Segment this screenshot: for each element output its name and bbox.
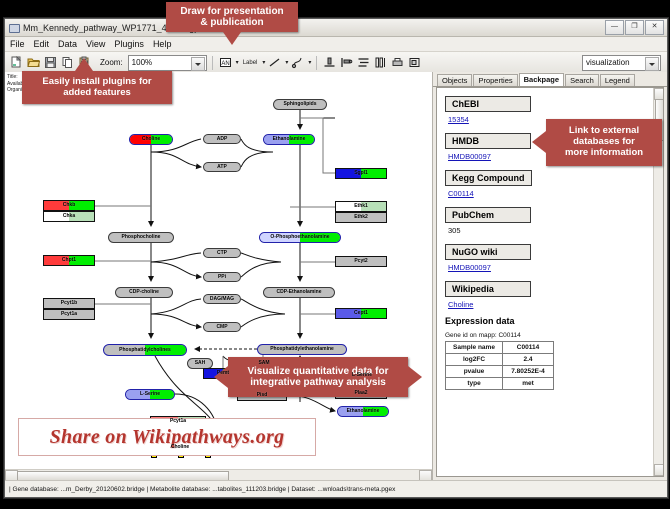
metabolite-node-sphingolipids[interactable]: Sphingolipids [273,99,327,110]
tab-objects[interactable]: Objects [437,74,472,86]
label-dropdown-icon[interactable]: ▾ [262,59,265,66]
node-label: CDP-choline [129,290,159,295]
maximize-button[interactable]: ❐ [625,20,644,35]
print-icon[interactable] [390,55,405,70]
node-label: Ethanolamine [273,137,306,142]
tab-search[interactable]: Search [565,74,599,86]
distribute-vertical-icon[interactable] [356,55,371,70]
node-label: Chkb [63,203,76,208]
expr-key: type [446,378,503,390]
tab-properties[interactable]: Properties [473,74,517,86]
visualization-value: visualization [586,58,630,67]
node-label: L-Serine [140,392,160,397]
screenshot-root: Mm_Kennedy_pathway_WP1771_45176.gpml — ❐… [0,0,670,509]
table-row: log2FC2.4 [446,354,554,366]
expr-value: 7.80252E-4 [503,366,554,378]
metabolite-node-atp[interactable]: ATP [203,162,241,172]
gene-node-chkb[interactable]: Chkb [43,200,95,211]
window-buttons: — ❐ ✕ [605,20,664,35]
metabolite-node-ethanolamine[interactable]: Ethanolamine [263,134,315,145]
node-label: Pcyt1a [170,419,186,424]
node-label: Phosphatidylcholines [119,348,171,353]
db-link[interactable]: Choline [448,300,654,309]
node-label: CMP [216,325,227,330]
toolbar-separator-2 [316,56,317,70]
app-icon [8,22,19,33]
hscroll-thumb[interactable] [17,471,229,480]
db-link[interactable]: HMDB00097 [448,263,654,272]
metabolite-node-phosphatidylcholines[interactable]: Phosphatidylcholines [103,344,187,356]
canvas-hscrollbar[interactable] [5,469,432,480]
node-label: Plaa2 [354,391,367,396]
line-icon[interactable] [267,55,282,70]
node-label: Cept1 [354,311,368,316]
callout-link: Link to external databases for more info… [546,119,662,166]
metabolite-node-ppi[interactable]: PPi [203,272,241,282]
node-label: O-Phosphoethanolamine [270,235,329,240]
node-label: Pcyt2 [354,259,367,264]
status-bar-text: | Gene database: ...m_Derby_20120602.bri… [9,486,395,493]
node-label: Ethk2 [354,215,368,220]
datanode-dropdown-icon[interactable]: ▾ [236,59,239,66]
expr-key: pvalue [446,366,503,378]
svg-text:AN: AN [221,61,229,67]
expression-table: Sample nameC00114log2FC2.4pvalue7.80252E… [445,341,554,390]
callout-visualize: Visualize quantitative data for integrat… [228,357,408,397]
hscroll-right-arrow[interactable] [419,470,432,480]
node-label: L-Serine [352,373,372,378]
align-bottom-icon[interactable] [322,55,337,70]
distribute-horizontal-icon[interactable] [373,55,388,70]
db-link[interactable]: C00114 [448,189,654,198]
callout-draw: Draw for presentation & publication [166,2,298,32]
callout-draw-text: Draw for presentation & publication [180,6,283,29]
chevron-down-icon-visualization[interactable] [645,57,659,71]
gene-id-label: Gene id on mapp: C00114 [445,332,654,339]
gene-node-chka[interactable]: Chka [43,211,95,222]
callout-draw-arrow-icon [223,32,241,45]
db-header: HMDB [445,133,531,149]
menu-item-plugins[interactable]: Plugins [114,39,144,49]
table-row: Sample nameC00114 [446,342,554,354]
node-label: Pisd [257,393,268,398]
metabolite-node-ethanolamine[interactable]: Ethanolamine [337,406,389,417]
gene-node-sgpl1[interactable]: Sgpl1 [335,168,387,179]
tab-legend[interactable]: Legend [600,74,635,86]
node-label: CTP [217,251,227,256]
callout-visualize-arrow-right-icon [408,366,422,388]
status-bar: | Gene database: ...m_Derby_20120602.bri… [5,480,667,497]
callout-share-text: Share on Wikipathways.org [50,426,285,449]
node-label: ADP [217,137,228,142]
node-label: Ethk1 [354,204,368,209]
menu-item-help[interactable]: Help [153,39,172,49]
metabolite-node-choline[interactable]: Choline [129,134,173,145]
align-left-icon[interactable] [339,55,354,70]
node-label: CDP-Ethanolamine [276,290,321,295]
node-label: Pemt [217,371,229,376]
tab-backpage[interactable]: Backpage [519,73,564,86]
db-header: Wikipedia [445,281,531,297]
node-label: Pcyt1a [61,312,77,317]
line-dropdown-icon[interactable]: ▾ [285,59,288,66]
metabolite-node-ctp[interactable]: CTP [203,248,241,258]
node-label: Sgpl1 [354,171,368,176]
table-row: typemet [446,378,554,390]
node-label: Chka [63,214,75,219]
open-folder-icon[interactable] [26,55,41,70]
gene-node-pcyt1a[interactable]: Pcyt1a [43,309,95,320]
metabolite-node-cdp-ethanolamine[interactable]: CDP-Ethanolamine [263,287,335,298]
menu-item-edit[interactable]: Edit [34,39,50,49]
toolbar-separator-1 [212,56,213,70]
interaction-icon[interactable] [290,55,305,70]
close-button[interactable]: ✕ [645,20,664,35]
metabolite-node-cdp-choline[interactable]: CDP-choline [115,287,173,298]
callout-plugins: Easily install plugins for added feature… [22,71,172,104]
side-panel-tabs: ObjectsPropertiesBackpageSearchLegend [433,72,667,87]
expr-key: Sample name [446,342,503,354]
save-icon[interactable] [43,55,58,70]
callout-link-arrow-icon [532,131,546,153]
db-header: ChEBI [445,96,531,112]
expr-value: C00114 [503,342,554,354]
callout-link-text: Link to external databases for more info… [565,126,643,159]
db-header: PubChem [445,207,531,223]
metabolite-node-dag-mag[interactable]: DAG/MAG [203,294,241,304]
callout-share: Share on Wikipathways.org [18,418,316,456]
zoom-value: 100% [132,58,152,67]
expr-value: met [503,378,554,390]
metabolite-node-phosphatidylethanolamine[interactable]: Phosphatidylethanolamine [257,344,347,355]
node-label: Phosphocholine [122,235,161,240]
callout-plugins-arrow-icon [75,58,93,71]
node-label: Pcyt1b [61,301,77,306]
metabolite-node-cmp[interactable]: CMP [203,322,241,332]
db-entry: NuGO wikiHMDB00097 [445,242,654,272]
expression-data-title: Expression data [445,316,654,326]
title-bar: Mm_Kennedy_pathway_WP1771_45176.gpml — ❐… [5,19,667,37]
menu-bar: File Edit Data View Plugins Help [5,37,667,52]
label-button[interactable]: Label [241,60,260,66]
datanode-icon[interactable]: AN [218,55,233,70]
expr-key: log2FC [446,354,503,366]
db-entry: PubChem305 [445,205,654,235]
expr-value: 2.4 [503,354,554,366]
chevron-down-icon[interactable] [191,57,205,71]
node-label: Phosphatidylethanolamine [270,347,334,352]
metabolite-node-phosphocholine[interactable]: Phosphocholine [108,232,174,243]
node-label: Choline [142,137,160,142]
callout-plugins-text: Easily install plugins for added feature… [42,77,151,99]
zoom-select[interactable]: 100% [128,55,207,71]
new-file-icon[interactable] [9,55,24,70]
interaction-dropdown-icon[interactable]: ▾ [308,59,311,66]
node-label: Sphingolipids [283,102,316,107]
minimize-button[interactable]: — [605,20,624,35]
db-header: NuGO wiki [445,244,531,260]
metabolite-node-adp[interactable]: ADP [203,134,241,144]
node-label: Chpt1 [62,258,76,263]
gene-node-cept1[interactable]: Cept1 [335,308,387,319]
db-value: 305 [448,226,654,235]
gene-node-pcyt2[interactable]: Pcyt2 [335,256,387,267]
group-icon[interactable] [407,55,422,70]
metabolite-node-l-serine[interactable]: L-Serine [125,389,175,400]
node-label: PPi [218,275,226,280]
node-label: SAM [258,361,269,366]
table-row: pvalue7.80252E-4 [446,366,554,378]
menu-item-file[interactable]: File [10,39,25,49]
metabolite-node-o-phosphoethanolamine[interactable]: O-Phosphoethanolamine [259,232,341,243]
vscroll-down-arrow[interactable] [654,464,664,476]
db-header: Kegg Compound [445,170,532,186]
db-entry: Kegg CompoundC00114 [445,168,654,198]
node-label: DAG/MAG [210,297,234,302]
gene-node-chpt1[interactable]: Chpt1 [43,255,95,266]
gene-node-ethk2[interactable]: Ethk2 [335,212,387,223]
node-label: ATP [217,165,227,170]
copy-icon[interactable] [60,55,75,70]
node-label: Choline [171,445,189,450]
menu-item-data[interactable]: Data [58,39,77,49]
gene-node-ethk1[interactable]: Ethk1 [335,201,387,212]
visualization-select[interactable]: visualization [582,55,661,71]
node-label: Ethanolamine [347,409,380,414]
menu-item-view[interactable]: View [86,39,105,49]
gene-node-pcyt1b[interactable]: Pcyt1b [43,298,95,309]
db-entry: WikipediaCholine [445,279,654,309]
zoom-label: Zoom: [100,58,123,67]
node-label: SAH [195,361,206,366]
